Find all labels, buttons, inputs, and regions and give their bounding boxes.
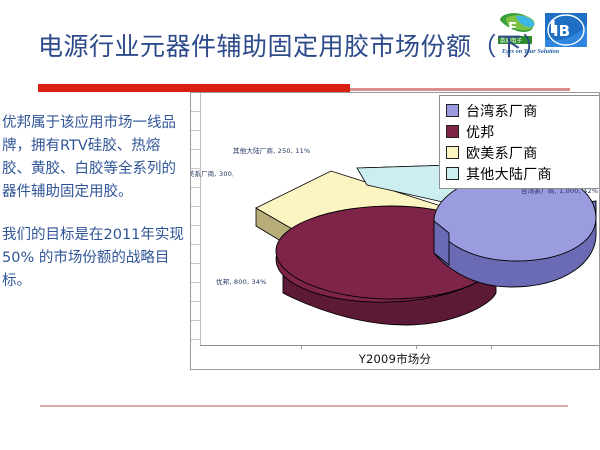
chart-legend[interactable]: 台湾系厂商 优邦 欧美系厂商 其他大陆厂商	[439, 95, 600, 189]
legend-swatch-icon	[446, 104, 459, 117]
legend-swatch-icon	[446, 167, 459, 180]
body-text-block: 优邦属于该应用市场一线品牌，拥有RTV硅胶、热熔胶、黄胶、白胶等全系列的器件辅助…	[2, 112, 188, 293]
title-underline-thick	[38, 84, 350, 92]
chart-axis-line	[200, 345, 600, 346]
pie-data-label-qitadalu: 其他大陆厂商, 250, 11%	[233, 145, 310, 155]
legend-label: 欧美系厂商	[466, 143, 538, 163]
legend-item-taiwan[interactable]: 台湾系厂商	[446, 100, 595, 121]
chart-axis-title: Y2009市场分	[200, 351, 590, 367]
paragraph-spacer	[2, 204, 188, 224]
axis-tick	[301, 345, 302, 349]
legend-label: 台湾系厂商	[466, 101, 538, 121]
blue-circle-logo-mark: IB	[544, 13, 588, 49]
legend-item-oumei[interactable]: 欧美系厂商	[446, 142, 595, 163]
pie-data-label-youbang: 优邦, 800, 34%	[216, 276, 267, 286]
legend-item-qitadalu[interactable]: 其他大陆厂商	[446, 163, 595, 184]
axis-tick	[491, 345, 492, 349]
footer-divider	[40, 405, 568, 407]
legend-item-youbang[interactable]: 优邦	[446, 121, 595, 142]
pie-data-label-oumei: 欧美系厂商, 300, 13%	[190, 168, 233, 178]
legend-label: 优邦	[466, 122, 495, 142]
legend-label: 其他大陆厂商	[466, 164, 552, 184]
axis-tick	[416, 345, 417, 349]
body-paragraph-1: 优邦属于该应用市场一线品牌，拥有RTV硅胶、热熔胶、黄胶、白胶等全系列的器件辅助…	[2, 112, 188, 204]
page-title: 电源行业元器件辅助固定用胶市场份额（下）	[38, 32, 548, 62]
body-paragraph-2: 我们的目标是在2011年实现50% 的市场份额的战略目标。	[2, 224, 188, 293]
chart-object[interactable]: 其他大陆厂商, 250, 11% 欧美系厂商, 300, 13% 优邦, 800…	[190, 92, 600, 370]
legend-swatch-icon	[446, 146, 459, 159]
svg-text:IB: IB	[553, 22, 570, 40]
presentation-slide: E 英威电子 IB Eyes on Your Solution 电源行业元器件辅…	[0, 0, 600, 450]
legend-swatch-icon	[446, 125, 459, 138]
